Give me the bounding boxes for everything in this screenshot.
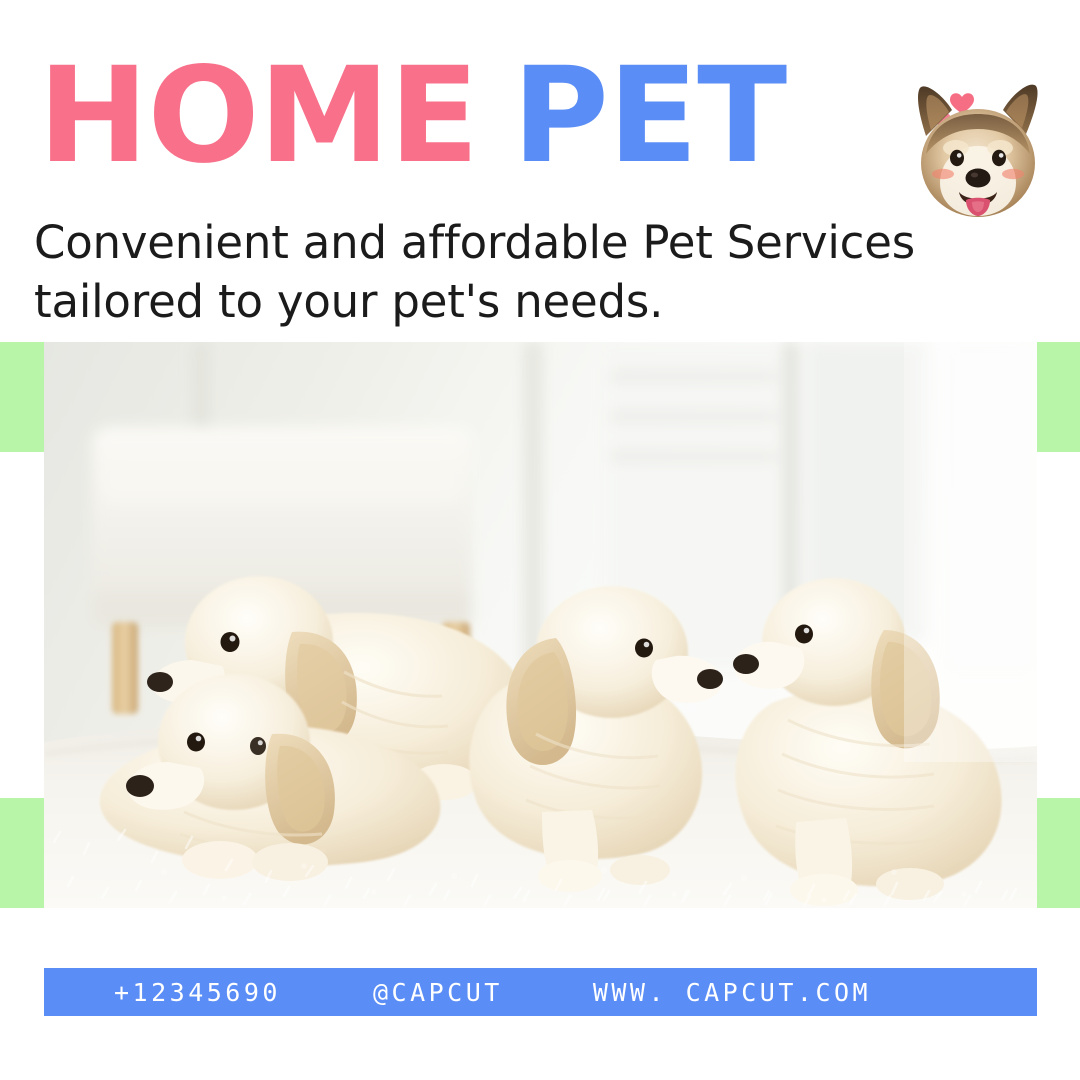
accent-block-top-left: [0, 342, 44, 452]
headline-word-home: HOME: [38, 52, 478, 181]
accent-block-bottom-left: [0, 798, 44, 908]
footer-phone[interactable]: +12345690: [114, 978, 281, 1007]
subtitle: Convenient and affordable Pet Services t…: [34, 214, 954, 331]
shiba-inu-dog-face-icon: [890, 50, 1070, 230]
headline-word-pet: PET: [512, 52, 786, 181]
footer-website[interactable]: WWW. CAPCUT.COM: [593, 978, 871, 1007]
poster-canvas: HOME PET: [0, 0, 1080, 1080]
subtitle-line-1: Convenient and affordable Pet Services: [34, 214, 954, 273]
headline: HOME PET: [38, 52, 786, 181]
accent-block-bottom-right: [1037, 798, 1080, 908]
contact-footer-bar: +12345690 @CAPCUT WWW. CAPCUT.COM: [44, 968, 1037, 1016]
subtitle-line-2: tailored to your pet's needs.: [34, 273, 954, 332]
footer-social-handle[interactable]: @CAPCUT: [373, 978, 503, 1007]
accent-block-top-right: [1037, 342, 1080, 452]
puppies-photo: [44, 342, 1037, 908]
